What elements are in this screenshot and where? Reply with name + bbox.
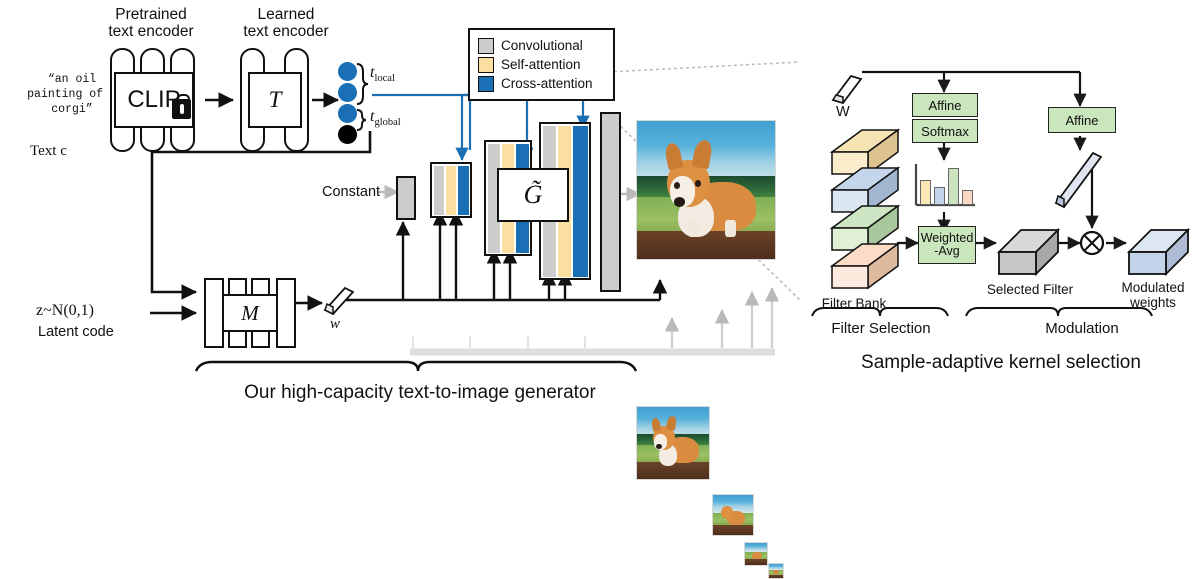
mapping-network-label: M <box>241 301 259 326</box>
gtilde-label: G̃ <box>524 180 543 210</box>
t-global-label: tglobal <box>370 108 401 128</box>
text-input-label: Text c <box>30 142 67 160</box>
pretrained-encoder-title-line2: text encoder <box>86 23 216 40</box>
weighted-avg-line2: -Avg <box>934 245 959 258</box>
legend-item-cross-attention: Cross-attention <box>478 74 604 93</box>
legend-item-convolutional: Convolutional <box>478 36 604 55</box>
square-swatch-self-attention <box>478 57 494 73</box>
t-local-label: tlocal <box>370 64 395 84</box>
learned-encoder-title-line2: text encoder <box>226 23 346 40</box>
layer-self-attention <box>446 166 457 215</box>
token-local-1 <box>338 62 357 81</box>
lock-icon <box>172 99 191 119</box>
legend-item-self-attention: Self-attention <box>478 55 604 74</box>
right-caption: Sample-adaptive kernel selection <box>810 352 1192 374</box>
modulated-weights-line2: weights <box>1112 295 1194 310</box>
modulation-brace-label: Modulation <box>1012 320 1152 337</box>
affine-box-modulation[interactable]: Affine <box>1048 107 1116 133</box>
legend-label-convolutional: Convolutional <box>501 39 583 53</box>
learned-encoder-title-line1: Learned <box>226 6 346 23</box>
legend: Convolutional Self-attention Cross-atten… <box>468 28 615 101</box>
token-local-2 <box>338 83 357 102</box>
constant-input-block <box>396 176 416 220</box>
generated-image-scale-2 <box>712 494 754 536</box>
generated-image-scale-1 <box>636 406 710 480</box>
selected-filter-label: Selected Filter <box>982 282 1078 297</box>
token-global <box>338 125 357 144</box>
style-vector-label: w <box>330 316 340 333</box>
pretrained-encoder-title-line1: Pretrained <box>86 6 216 23</box>
token-local-3 <box>338 104 357 123</box>
softmax-histogram <box>920 165 976 205</box>
modulated-weights-label: Modulated weights <box>1112 280 1194 310</box>
w-vector-icon <box>833 76 861 103</box>
histogram-bar-4 <box>962 190 973 205</box>
pretrained-encoder-title: Pretrained text encoder <box>86 6 216 40</box>
gtilde-box: G̃ <box>497 168 569 222</box>
learned-encoder-box: T <box>248 72 302 128</box>
synthesis-block-1 <box>430 162 472 218</box>
output-conv-block <box>600 112 621 292</box>
generated-image-scale-4 <box>768 563 784 579</box>
affine-label-modulation: Affine <box>1065 113 1098 128</box>
affine-label-selection: Affine <box>928 98 961 113</box>
style-vector-icon <box>325 288 353 314</box>
modulated-weights-line1: Modulated <box>1112 280 1194 295</box>
modulation-style-vector-icon <box>1056 153 1101 207</box>
layer-convolutional <box>434 166 445 215</box>
filter-selection-brace-label: Filter Selection <box>812 320 950 337</box>
left-caption: Our high-capacity text-to-image generato… <box>150 382 690 404</box>
mapping-network-box: M <box>222 294 278 332</box>
w-label: W <box>836 104 850 120</box>
layer-cross-attention <box>458 166 469 215</box>
softmax-label: Softmax <box>921 124 969 139</box>
histogram-bar-3 <box>948 168 959 205</box>
constant-label: Constant <box>322 184 380 200</box>
generated-image-main <box>636 120 776 260</box>
affine-box-selection[interactable]: Affine <box>912 93 978 117</box>
filter-bank-container <box>815 122 891 296</box>
weighted-avg-box[interactable]: Weighted -Avg <box>918 226 976 264</box>
legend-label-cross-attention: Cross-attention <box>501 77 593 91</box>
modulated-weights-cube <box>1129 230 1188 274</box>
token-braces <box>357 64 368 130</box>
latent-label: z~N(0,1) <box>36 302 94 320</box>
learned-encoder-title: Learned text encoder <box>226 6 346 40</box>
latent-caption: Latent code <box>38 324 114 340</box>
square-swatch-convolutional <box>478 38 494 54</box>
selected-filter-cube <box>999 230 1058 274</box>
layer-cross-attention <box>573 126 588 277</box>
learned-encoder-label: T <box>269 87 282 113</box>
legend-label-self-attention: Self-attention <box>501 58 581 72</box>
generated-image-scale-3 <box>744 542 768 566</box>
filter-bank-cubes <box>832 130 898 288</box>
filter-bank-label: Filter Bank <box>806 296 902 311</box>
histogram-bar-1 <box>920 180 931 205</box>
softmax-box[interactable]: Softmax <box>912 119 978 143</box>
square-swatch-cross-attention <box>478 76 494 92</box>
histogram-bar-2 <box>934 187 945 205</box>
